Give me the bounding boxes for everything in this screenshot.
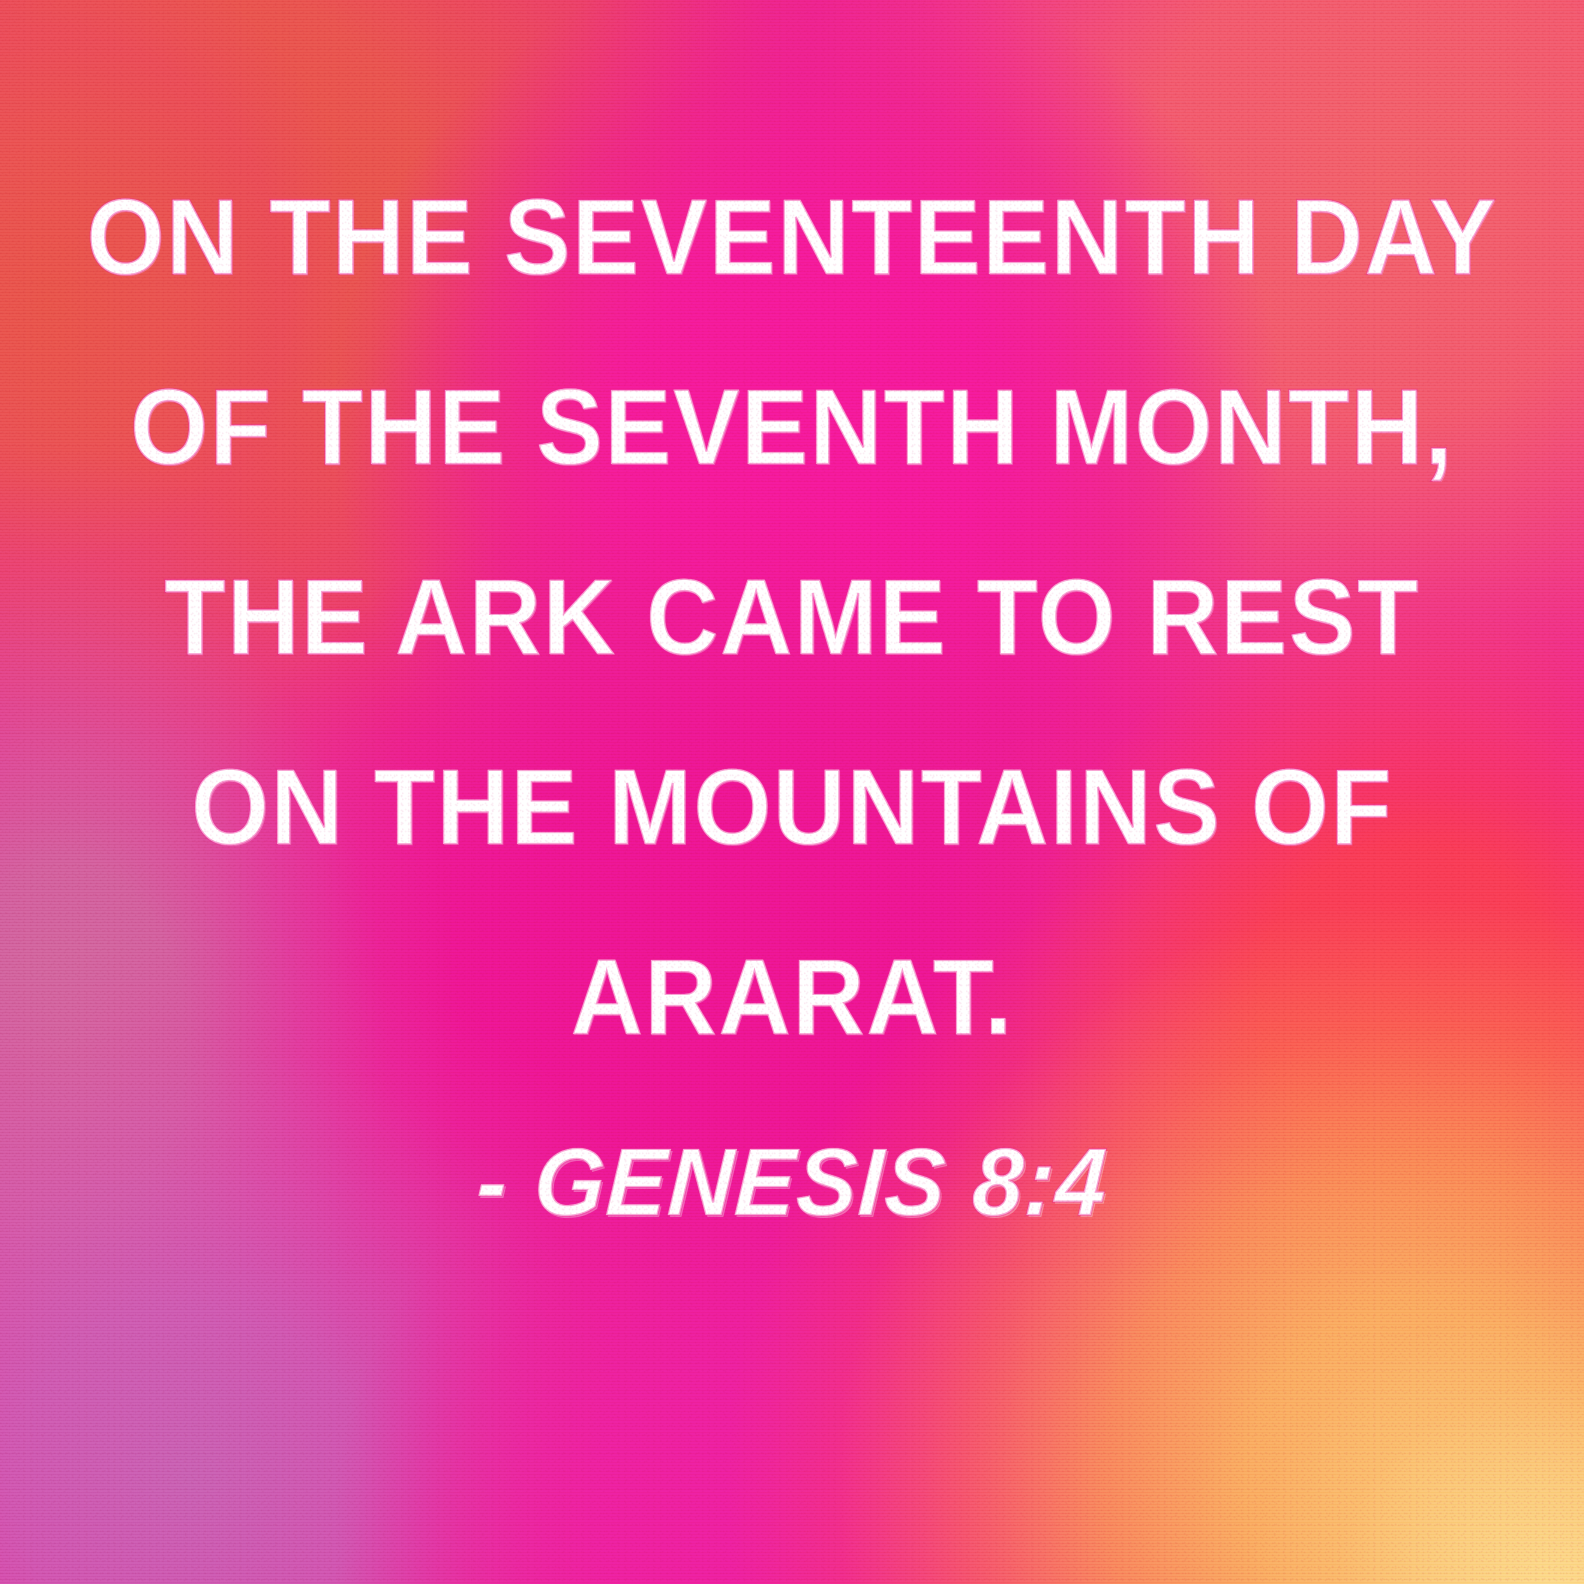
verse-image-canvas: ON THE SEVENTEENTH DAY ON THE SEVENTEENT…	[0, 0, 1584, 1584]
verse-line-3: THE ARK CAME TO REST THE ARK CAME TO RES…	[55, 522, 1528, 712]
verse-line-2: OF THE SEVENTH MONTH, OF THE SEVENTH MON…	[55, 332, 1528, 522]
verse-line-5: ARARAT. ARARAT.	[55, 902, 1528, 1092]
verse-line-1: ON THE SEVENTEENTH DAY ON THE SEVENTEENT…	[55, 142, 1528, 332]
attribution-block: - GENESIS 8:4 - GENESIS 8:4	[0, 1118, 1584, 1248]
verse-line-3-text: THE ARK CAME TO REST	[164, 556, 1420, 677]
verse-line-5-text: ARARAT.	[570, 936, 1013, 1057]
verse-line-4-text: ON THE MOUNTAINS OF	[191, 746, 1393, 867]
verse-text-block: ON THE SEVENTEENTH DAY ON THE SEVENTEENT…	[0, 142, 1584, 1092]
verse-reference: - GENESIS 8:4 - GENESIS 8:4	[473, 1118, 1110, 1248]
verse-line-2-text: OF THE SEVENTH MONTH,	[130, 366, 1454, 487]
verse-line-4: ON THE MOUNTAINS OF ON THE MOUNTAINS OF	[55, 712, 1528, 902]
verse-line-1-text: ON THE SEVENTEENTH DAY	[86, 176, 1497, 297]
verse-reference-text: - GENESIS 8:4	[474, 1129, 1110, 1236]
